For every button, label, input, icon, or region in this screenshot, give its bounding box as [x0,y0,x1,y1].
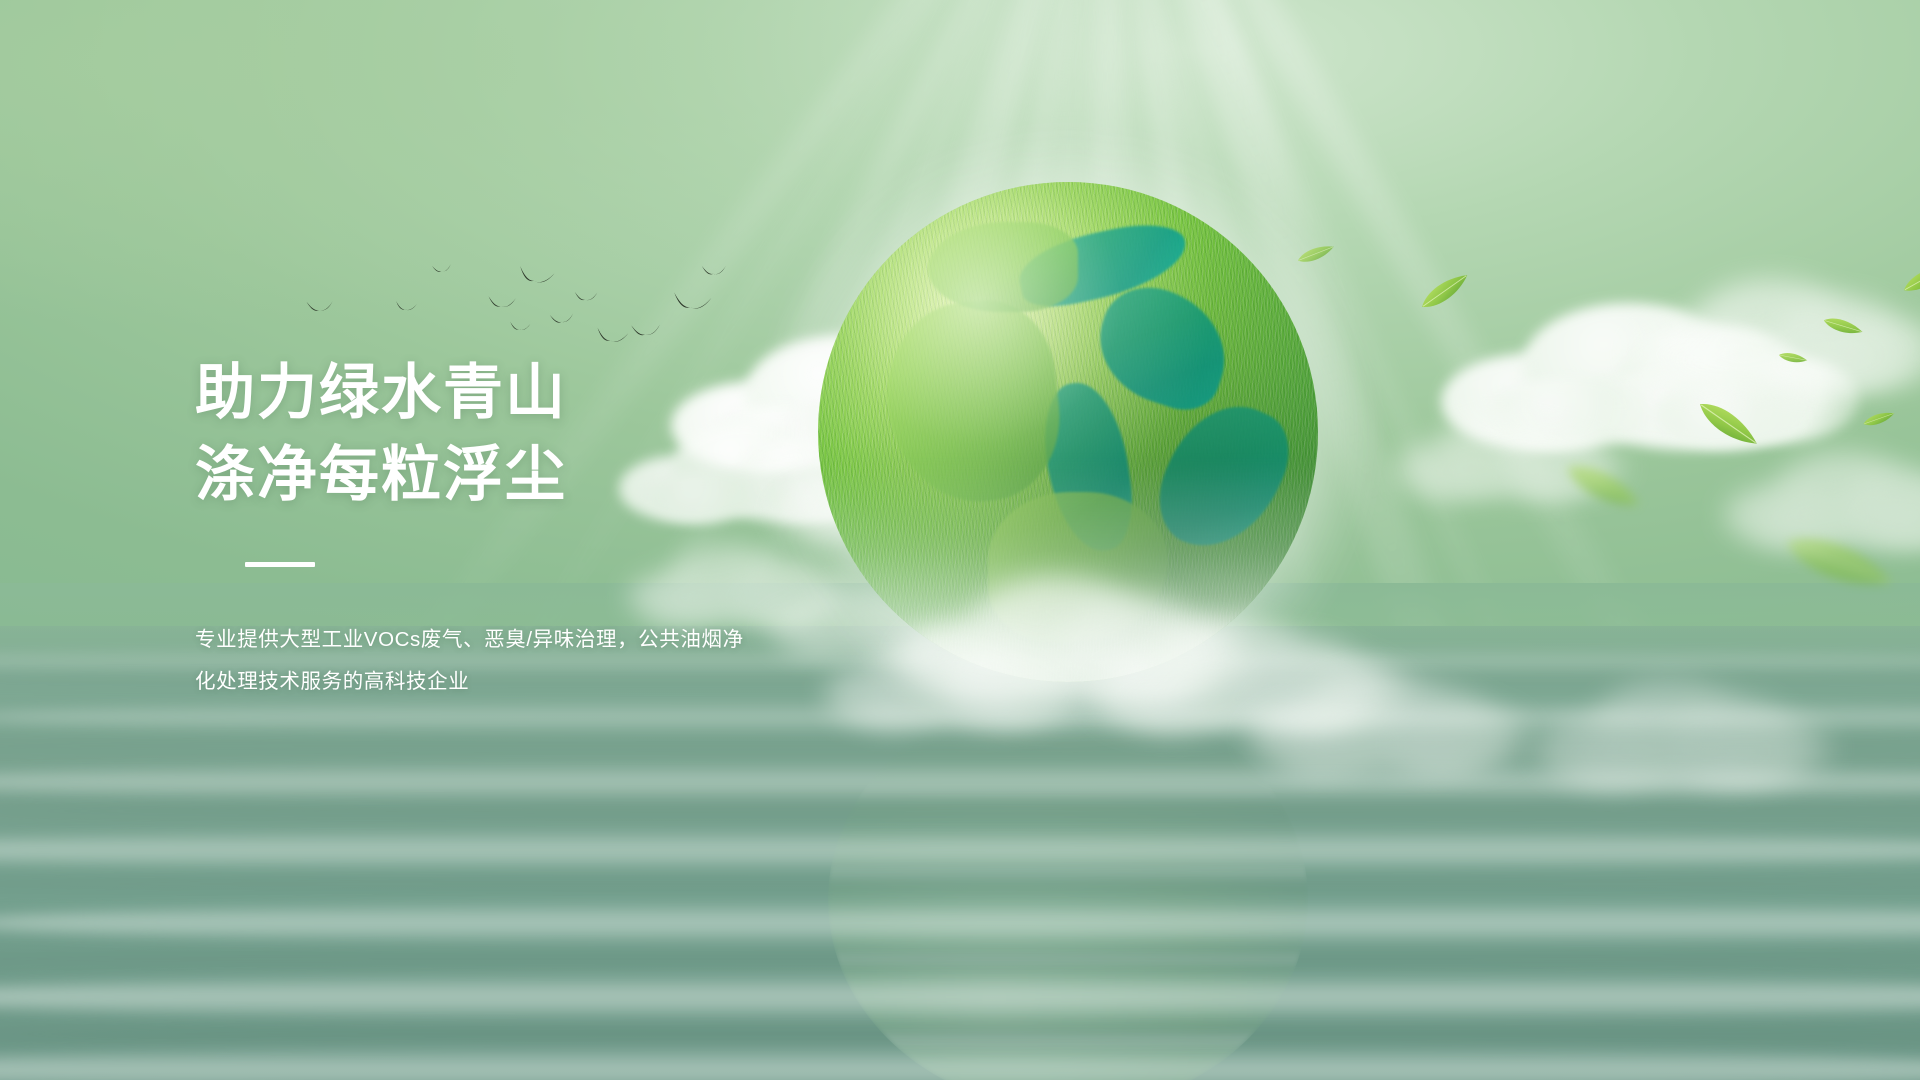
bird-icon [671,291,713,315]
bird-icon [487,295,517,311]
hero-description: 专业提供大型工业VOCs废气、恶臭/异味治理，公共油烟净 化处理技术服务的高科技… [195,619,735,703]
bird-icon [394,300,417,313]
water-wave [0,872,1920,896]
water-wave [0,800,1920,822]
bird-icon [701,264,727,278]
water-wave [0,900,1920,946]
bird-icon [574,291,598,303]
bird-icon [306,299,335,315]
bird-icon [549,311,575,326]
water-wave [0,736,1920,756]
water-wave [0,828,1920,872]
headline-line-2: 涤净每粒浮尘 [195,434,955,516]
water-wave [0,700,1920,734]
water-wave [0,972,1920,1022]
water-wave [0,1044,1920,1080]
headline-line-1: 助力绿水青山 [195,352,955,434]
hero-banner: 助力绿水青山 涤净每粒浮尘 专业提供大型工业VOCs废气、恶臭/异味治理，公共油… [0,0,1920,1080]
water-wave [0,946,1920,972]
bird-icon [630,322,662,340]
headline-divider [245,562,315,567]
bird-icon [509,321,532,333]
hero-copy: 助力绿水青山 涤净每粒浮尘 专业提供大型工业VOCs废气、恶臭/异味治理，公共油… [195,352,955,703]
description-line-2: 化处理技术服务的高科技企业 [195,661,735,703]
water-wave [0,762,1920,802]
description-line-1: 专业提供大型工业VOCs废气、恶臭/异味治理，公共油烟净 [195,619,735,661]
